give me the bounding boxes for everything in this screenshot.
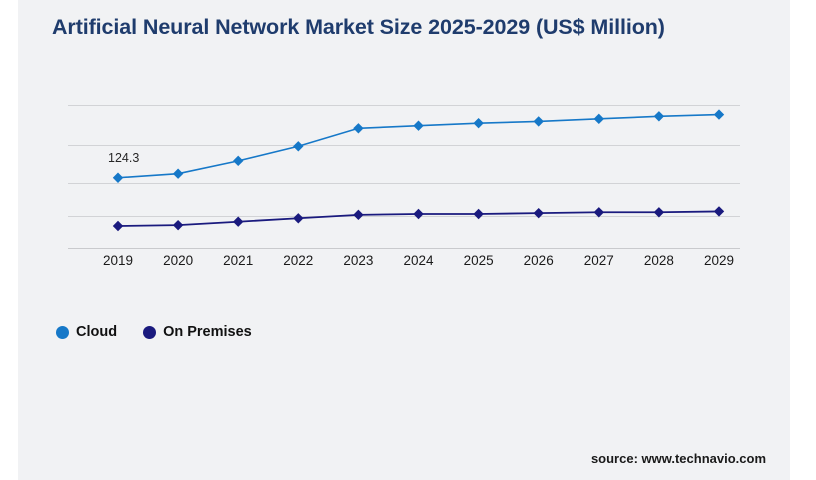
x-axis-tick-label: 2023 [343, 253, 373, 268]
data-point-marker[interactable] [233, 217, 243, 227]
x-axis-tick-label: 2029 [704, 253, 734, 268]
data-point-marker[interactable] [534, 208, 544, 218]
data-point-marker[interactable] [353, 123, 363, 133]
legend-label-cloud: Cloud [76, 324, 117, 340]
x-axis-tick-label: 2021 [223, 253, 253, 268]
data-point-marker[interactable] [173, 169, 183, 179]
data-point-marker[interactable] [594, 114, 604, 124]
x-axis-tick-label: 2025 [464, 253, 494, 268]
data-point-marker[interactable] [714, 109, 724, 119]
data-point-marker[interactable] [714, 206, 724, 216]
chart-panel: Artificial Neural Network Market Size 20… [18, 0, 790, 480]
legend-item-cloud[interactable]: Cloud [56, 324, 117, 340]
data-label-cloud-2019: 124.3 [108, 151, 139, 165]
x-axis-tick-label: 2022 [283, 253, 313, 268]
source-attribution: source: www.technavio.com [591, 451, 766, 466]
data-point-marker[interactable] [113, 221, 123, 231]
chart-legend: Cloud On Premises [56, 324, 252, 340]
x-axis-labels: 2019202020212022202320242025202620272028… [68, 253, 740, 275]
plot-area [68, 100, 740, 250]
legend-item-on-premises[interactable]: On Premises [143, 324, 252, 340]
x-axis-line [68, 248, 740, 249]
data-point-marker[interactable] [473, 118, 483, 128]
series-layer [68, 100, 740, 250]
data-point-marker[interactable] [293, 213, 303, 223]
x-axis-tick-label: 2020 [163, 253, 193, 268]
data-point-marker[interactable] [654, 207, 664, 217]
x-axis-tick-label: 2026 [524, 253, 554, 268]
chart-root: Artificial Neural Network Market Size 20… [0, 0, 816, 480]
legend-label-on-premises: On Premises [163, 324, 252, 340]
data-point-marker[interactable] [413, 209, 423, 219]
data-point-marker[interactable] [413, 121, 423, 131]
data-point-marker[interactable] [534, 116, 544, 126]
data-point-marker[interactable] [353, 210, 363, 220]
x-axis-tick-label: 2019 [103, 253, 133, 268]
x-axis-tick-label: 2024 [403, 253, 433, 268]
legend-marker-icon [56, 326, 69, 339]
x-axis-tick-label: 2027 [584, 253, 614, 268]
legend-marker-icon [143, 326, 156, 339]
data-point-marker[interactable] [173, 220, 183, 230]
data-point-marker[interactable] [233, 156, 243, 166]
data-point-marker[interactable] [113, 173, 123, 183]
data-point-marker[interactable] [654, 111, 664, 121]
chart-title: Artificial Neural Network Market Size 20… [52, 14, 712, 41]
x-axis-tick-label: 2028 [644, 253, 674, 268]
data-point-marker[interactable] [594, 207, 604, 217]
data-point-marker[interactable] [473, 209, 483, 219]
data-point-marker[interactable] [293, 141, 303, 151]
